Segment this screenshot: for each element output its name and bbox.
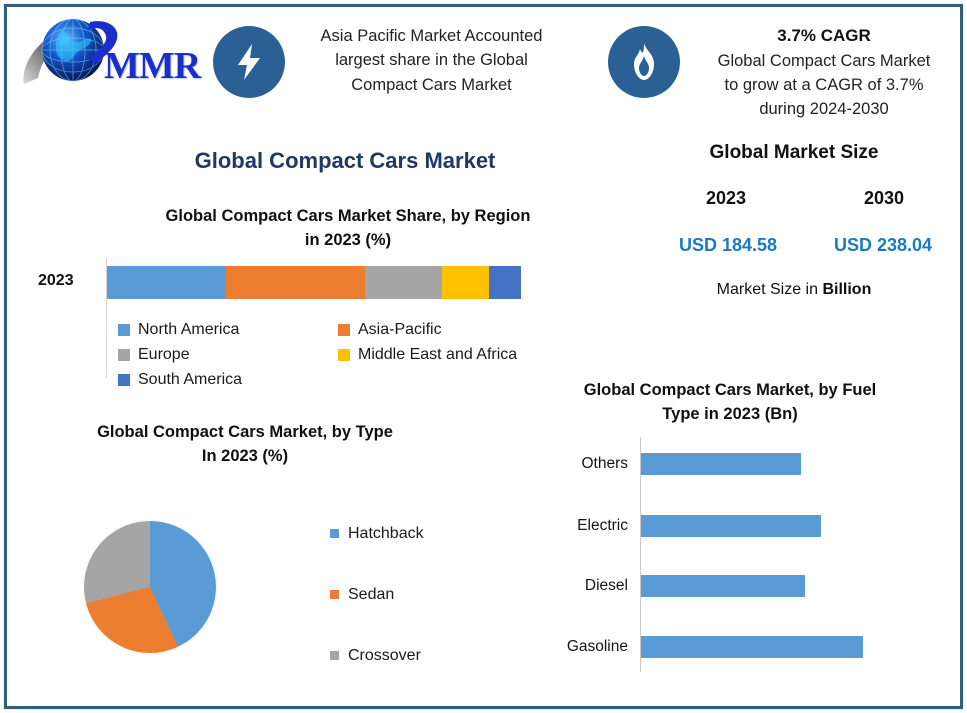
legend-swatch-icon — [330, 590, 339, 599]
region-chart-title-line2: in 2023 (%) — [58, 229, 638, 253]
region-legend-item[interactable]: Middle East and Africa — [338, 342, 558, 367]
market-size-note-unit: Billion — [822, 281, 871, 298]
legend-swatch-icon — [338, 324, 350, 336]
market-size-value-2030: USD 238.04 — [798, 235, 967, 256]
infographic-page: MMR Asia Pacific Market Accounted larges… — [0, 0, 967, 713]
header-line: Compact Cars Market — [299, 73, 564, 97]
type-legend-item[interactable]: Hatchback — [330, 503, 500, 564]
region-stacked-bar[interactable] — [107, 266, 521, 299]
market-size-value-2023: USD 184.58 — [643, 235, 813, 256]
region-legend: North AmericaAsia-PacificEuropeMiddle Ea… — [118, 317, 558, 392]
fuel-bar-electric[interactable] — [641, 515, 821, 537]
region-chart-title-line1: Global Compact Cars Market Share, by Reg… — [58, 205, 638, 229]
region-legend-item[interactable]: North America — [118, 317, 338, 342]
header-line: largest share in the Global — [299, 48, 564, 72]
fuel-label-gasoline: Gasoline — [508, 638, 628, 656]
header-highlight-2-text: 3.7% CAGR Global Compact Cars Market to … — [694, 24, 954, 122]
region-segment-south-america[interactable] — [489, 266, 521, 299]
type-legend-item[interactable]: Sedan — [330, 564, 500, 625]
header-highlight-cagr: 3.7% CAGR Global Compact Cars Market to … — [608, 24, 958, 122]
type-chart-title-line2: In 2023 (%) — [35, 445, 455, 469]
market-size-year-2030: 2030 — [814, 188, 954, 209]
region-legend-item[interactable]: South America — [118, 367, 338, 392]
header-line: Global Compact Cars Market — [694, 49, 954, 73]
region-legend-label: Asia-Pacific — [358, 321, 442, 339]
legend-swatch-icon — [338, 349, 350, 361]
region-legend-label: Middle East and Africa — [358, 346, 517, 364]
region-legend-label: South America — [138, 371, 242, 389]
fuel-bar-gasoline[interactable] — [641, 636, 863, 658]
mmr-logo[interactable]: MMR — [18, 12, 208, 100]
region-chart-title: Global Compact Cars Market Share, by Reg… — [58, 205, 638, 253]
flame-icon — [608, 26, 680, 98]
fuel-label-others: Others — [508, 455, 628, 473]
fuel-bar-others[interactable] — [641, 453, 801, 475]
region-legend-label: North America — [138, 321, 239, 339]
market-size-title: Global Market Size — [634, 142, 954, 164]
region-segment-asia-pacific[interactable] — [226, 266, 365, 299]
type-legend-item[interactable]: Crossover — [330, 625, 500, 686]
legend-swatch-icon — [118, 374, 130, 386]
fuel-bar-diesel[interactable] — [641, 575, 805, 597]
market-size-unit-note: Market Size in Billion — [634, 281, 954, 299]
header-line: Asia Pacific Market Accounted — [299, 24, 564, 48]
header-highlight-1-text: Asia Pacific Market Accounted largest sh… — [299, 24, 564, 97]
market-size-note-prefix: Market Size in — [717, 281, 823, 298]
fuel-chart-title: Global Compact Cars Market, by Fuel Type… — [515, 379, 945, 427]
header-highlight-asia-pacific: Asia Pacific Market Accounted largest sh… — [213, 24, 568, 98]
header-line: to grow at a CAGR of 3.7% — [694, 73, 954, 97]
type-legend-label: Hatchback — [348, 525, 424, 543]
market-size-year-2023: 2023 — [656, 188, 796, 209]
legend-swatch-icon — [330, 651, 339, 660]
fuel-label-diesel: Diesel — [508, 577, 628, 595]
region-segment-europe[interactable] — [365, 266, 442, 299]
page-title: Global Compact Cars Market — [120, 148, 570, 174]
type-legend: HatchbackSedanCrossover — [330, 503, 500, 686]
fuel-chart-title-line1: Global Compact Cars Market, by Fuel — [515, 379, 945, 403]
legend-swatch-icon — [330, 529, 339, 538]
region-segment-north-america[interactable] — [107, 266, 226, 299]
cagr-heading: 3.7% CAGR — [694, 24, 954, 49]
region-segment-middle-east-and-africa[interactable] — [442, 266, 489, 299]
fuel-chart-title-line2: Type in 2023 (Bn) — [515, 403, 945, 427]
region-legend-label: Europe — [138, 346, 190, 364]
header-line: during 2024-2030 — [694, 97, 954, 121]
region-legend-item[interactable]: Europe — [118, 342, 338, 367]
type-legend-label: Sedan — [348, 586, 394, 604]
type-chart-title: Global Compact Cars Market, by Type In 2… — [35, 421, 455, 469]
type-chart-title-line1: Global Compact Cars Market, by Type — [35, 421, 455, 445]
legend-swatch-icon — [118, 349, 130, 361]
fuel-label-electric: Electric — [508, 517, 628, 535]
lightning-bolt-icon — [213, 26, 285, 98]
region-chart-category-label: 2023 — [38, 272, 74, 290]
logo-wordmark: MMR — [104, 44, 200, 88]
region-legend-item[interactable]: Asia-Pacific — [338, 317, 558, 342]
legend-swatch-icon — [118, 324, 130, 336]
type-legend-label: Crossover — [348, 647, 421, 665]
type-pie-chart[interactable] — [83, 520, 217, 654]
